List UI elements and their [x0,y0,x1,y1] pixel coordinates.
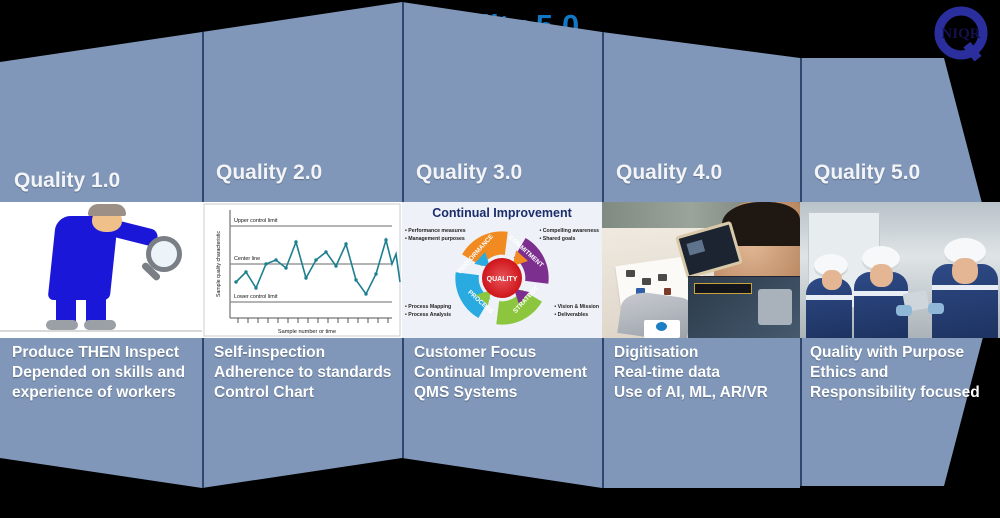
worker-face [952,258,978,284]
wheel-bullets-strategy: • Vision & Mission • Deliverables [554,304,599,320]
photo-logo-badge [644,320,680,338]
wheel-bullets-performance: • Performance measures • Management purp… [405,228,466,244]
stage-description: Produce THEN Inspect Depended on skills … [0,340,202,402]
worker-leg-left [56,290,76,324]
x-axis-label: Sample number or time [278,329,336,335]
stage-line: Customer Focus [414,343,596,363]
stage-image-industrial-workers [800,202,1000,338]
worker-face [822,270,842,290]
ucl-label: Upper control limit [234,218,278,224]
stage-image-continual-improvement: Continual Improvement QUALITY [402,202,602,338]
wheel-center-label: QUALITY [487,276,518,283]
stage-line: Adherence to standards [214,363,396,383]
stage-panel-5[interactable]: Quality 5.0 [800,0,1000,518]
stage-panel-2[interactable]: Quality 2.0 [202,0,402,518]
worker-shoe-right [84,320,116,330]
stage-line: Self-inspection [214,343,396,363]
bullet: • Shared goals [540,236,599,244]
stage-description: Self-inspection Adherence to standards C… [202,340,402,402]
worker-stripe [806,295,852,300]
stage-description: Quality with Purpose Ethics and Responsi… [800,340,1000,402]
worker-leg-right [86,290,106,324]
center-line-label: Center line [234,256,260,262]
bullet: • Deliverables [554,312,599,320]
worker-stripe [932,285,998,290]
stage-description: Digitisation Real-time data Use of AI, M… [602,340,800,402]
stage-line: experience of workers [12,383,196,403]
bullet: • Performance measures [405,228,466,236]
stage-description: Customer Focus Continual Improvement QMS… [402,340,602,402]
wheel-bullets-process: • Process Mapping • Process Analysis [405,304,451,320]
stage-line: Depended on skills and [12,363,196,383]
worker-face [870,264,893,287]
stage-image-inspector [0,202,202,338]
bullet: • Process Mapping [405,304,451,312]
stage-heading: Quality 4.0 [602,152,800,194]
worker-glove [896,305,912,316]
worker-glove [928,303,944,314]
bullet: • Vision & Mission [554,304,599,312]
worker-shoe-left [46,320,78,330]
stage-panel-1[interactable]: Quality 1.0 Produce THEN Inspect Depende… [0,0,202,518]
stage-line: QMS Systems [414,383,596,403]
wheel-bullets-commitment: • Compelling awareness • Shared goals [540,228,599,244]
photo-part [642,278,651,285]
stage-image-ar-tablet [602,202,800,338]
stage-line: Continual Improvement [414,363,596,383]
bullet: • Management purposes [405,236,466,244]
stage-panel-4[interactable]: Quality 4.0 Digitisation R [602,0,800,518]
stage-heading: Quality 2.0 [202,152,402,194]
bullet: • Compelling awareness [540,228,599,236]
stage-line: Use of AI, ML, AR/VR [614,383,794,403]
stage-line: Real-time data [614,363,794,383]
lcl-label: Lower control limit [234,294,278,300]
slide-canvas: Quality 5.0 NIQR Quality 1.0 [0,0,1000,518]
ground-line [0,330,202,332]
worker-hair [88,204,126,216]
stage-image-control-chart: Upper control limit Center line Lower co… [202,202,402,338]
stage-heading: Quality 1.0 [0,160,202,202]
stage-line: Produce THEN Inspect [12,343,196,363]
bullet: • Process Analysis [405,312,451,320]
stage-panel-3[interactable]: Quality 3.0 Continual Improvement [402,0,602,518]
stage-line: Control Chart [214,383,396,403]
stage-line: Digitisation [614,343,794,363]
worker-stripe [854,291,908,296]
y-axis-label: Sample quality characteristic [216,231,222,297]
photo-part [626,270,635,277]
stage-heading: Quality 3.0 [402,152,602,194]
stage-line: Ethics and [810,363,994,383]
stage-heading: Quality 5.0 [800,152,1000,194]
photo-inset [688,276,800,338]
photo-part [664,288,671,295]
photo-part [658,274,667,281]
stage-line: Responsibility focused [810,383,994,403]
stage-line: Quality with Purpose [810,343,994,363]
